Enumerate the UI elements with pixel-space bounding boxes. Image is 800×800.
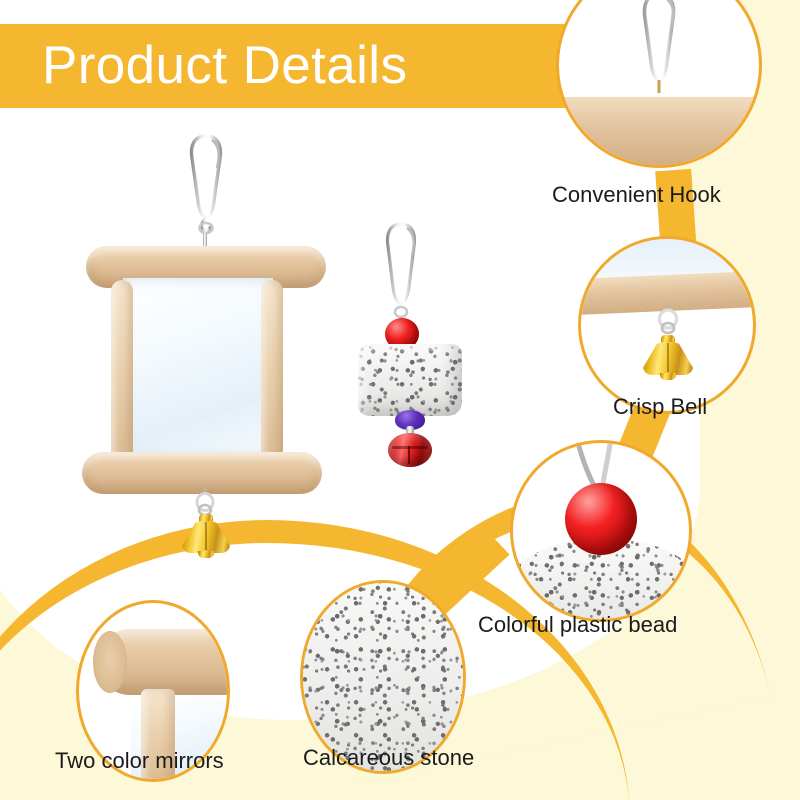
frame-right-bar xyxy=(261,280,283,462)
callout-label-convenient-hook: Convenient Hook xyxy=(552,182,721,208)
callout-label-crisp-bell: Crisp Bell xyxy=(613,394,707,420)
callout-crisp-bell xyxy=(578,236,756,414)
callout-colorful-plastic-bead xyxy=(510,440,692,622)
red-plastic-bead xyxy=(565,483,637,555)
calcareous-stone-block xyxy=(358,344,462,416)
red-bell xyxy=(386,426,434,470)
product-details-infographic: Product Details xyxy=(0,0,800,800)
callout-label-calcareous-stone: Calcareous stone xyxy=(303,745,474,771)
gold-bell xyxy=(182,514,230,558)
callout-label-two-color-mirrors: Two color mirrors xyxy=(55,748,224,774)
product-stone-chew-toy xyxy=(352,218,482,508)
mirror-glass xyxy=(123,278,273,458)
hook-icon xyxy=(374,218,428,323)
product-mirror-toy xyxy=(78,128,338,578)
bell-hanger-icon xyxy=(651,305,685,339)
wooden-dowel-end-cap xyxy=(93,631,127,693)
page-title: Product Details xyxy=(42,27,407,105)
wooden-bar xyxy=(556,97,762,167)
frame-left-bar xyxy=(111,280,133,462)
gold-bell xyxy=(643,335,693,381)
hook-icon xyxy=(176,128,236,238)
callout-convenient-hook xyxy=(556,0,762,168)
callout-label-colorful-plastic-bead: Colorful plastic bead xyxy=(478,612,677,638)
hook-icon xyxy=(633,0,685,97)
